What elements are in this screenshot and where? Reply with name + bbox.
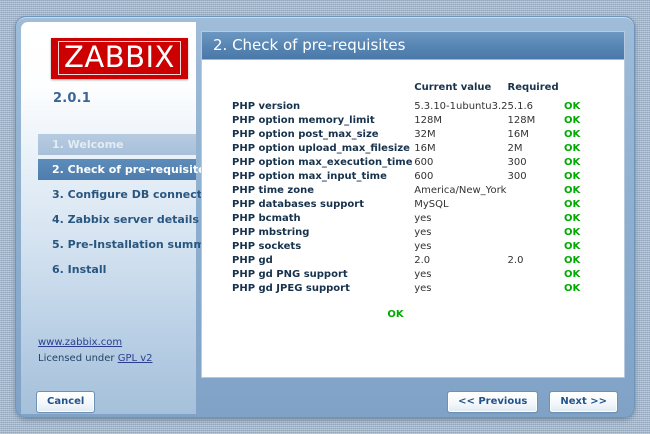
row-name: PHP gd PNG support [202, 267, 414, 281]
license-prefix: Licensed under [38, 353, 118, 364]
content-panel: 2. Check of pre-requisites Current value… [201, 31, 625, 378]
row-required-value: 16M [508, 127, 564, 141]
site-link-line: www.zabbix.com [38, 337, 153, 348]
version-label: 2.0.1 [53, 91, 91, 106]
zabbix-logo: ZABBIX [51, 38, 188, 79]
sidebar-footer-links: www.zabbix.com Licensed under GPL v2 [38, 337, 153, 369]
row-current-value: yes [414, 239, 507, 253]
row-status: OK [564, 211, 594, 225]
table-body: PHP version5.3.10-1ubuntu3.25.1.6OKPHP o… [202, 99, 594, 295]
column-header-required: Required [508, 80, 564, 99]
row-name: PHP option post_max_size [202, 127, 414, 141]
table-row: PHP gd JPEG supportyesOK [202, 281, 594, 295]
table-row: PHP option post_max_size32M16MOK [202, 127, 594, 141]
sidebar-item-welcome[interactable]: 1. Welcome [38, 134, 196, 155]
sidebar-item-pre-install-summary[interactable]: 5. Pre-Installation summary [38, 234, 196, 255]
row-status: OK [564, 197, 594, 211]
row-required-value [508, 211, 564, 225]
row-required-value: 128M [508, 113, 564, 127]
table-row: PHP socketsyesOK [202, 239, 594, 253]
row-status: OK [564, 183, 594, 197]
table-header-row: Current value Required [202, 80, 594, 99]
row-status: OK [564, 169, 594, 183]
row-name: PHP sockets [202, 239, 414, 253]
table-header: Current value Required [202, 80, 594, 99]
row-status: OK [564, 141, 594, 155]
row-required-value [508, 225, 564, 239]
license-link[interactable]: GPL v2 [118, 353, 153, 364]
row-status: OK [564, 155, 594, 169]
row-current-value: yes [414, 281, 507, 295]
row-current-value: 32M [414, 127, 507, 141]
row-name: PHP option memory_limit [202, 113, 414, 127]
sidebar-item-install[interactable]: 6. Install [38, 259, 196, 280]
table-row: PHP bcmathyesOK [202, 211, 594, 225]
table-row: PHP time zoneAmerica/New_YorkOK [202, 183, 594, 197]
sidebar: ZABBIX 2.0.1 1. Welcome 2. Check of pre-… [21, 22, 196, 414]
installer-window: ZABBIX 2.0.1 1. Welcome 2. Check of pre-… [15, 16, 635, 418]
row-status: OK [564, 267, 594, 281]
row-required-value: 300 [508, 169, 564, 183]
sidebar-item-check-prerequisites[interactable]: 2. Check of pre-requisites [38, 159, 196, 180]
column-header-status [564, 80, 594, 99]
next-button[interactable]: Next >> [550, 392, 617, 412]
row-current-value: 128M [414, 113, 507, 127]
row-current-value: yes [414, 267, 507, 281]
row-name: PHP option upload_max_filesize [202, 141, 414, 155]
table-row: PHP option upload_max_filesize16M2MOK [202, 141, 594, 155]
row-name: PHP time zone [202, 183, 414, 197]
cancel-button-wrap: Cancel [37, 389, 94, 412]
row-status: OK [564, 253, 594, 267]
row-required-value: 5.1.6 [508, 99, 564, 113]
step-list: 1. Welcome 2. Check of pre-requisites 3.… [38, 134, 196, 284]
row-name: PHP version [202, 99, 414, 113]
table-row: PHP version5.3.10-1ubuntu3.25.1.6OK [202, 99, 594, 113]
row-current-value: 2.0 [414, 253, 507, 267]
row-name: PHP gd JPEG support [202, 281, 414, 295]
row-current-value: 600 [414, 169, 507, 183]
row-current-value: America/New_York [414, 183, 507, 197]
row-current-value: 16M [414, 141, 507, 155]
row-required-value [508, 267, 564, 281]
row-required-value [508, 197, 564, 211]
row-required-value [508, 281, 564, 295]
row-name: PHP databases support [202, 197, 414, 211]
row-status: OK [564, 127, 594, 141]
row-required-value: 2M [508, 141, 564, 155]
row-name: PHP option max_input_time [202, 169, 414, 183]
table-row: PHP gd PNG supportyesOK [202, 267, 594, 281]
row-required-value: 2.0 [508, 253, 564, 267]
column-header-name [202, 80, 414, 99]
table-row: PHP mbstringyesOK [202, 225, 594, 239]
table-row: PHP databases supportMySQLOK [202, 197, 594, 211]
row-name: PHP option max_execution_time [202, 155, 414, 169]
sidebar-item-server-details[interactable]: 4. Zabbix server details [38, 209, 196, 230]
row-status: OK [564, 225, 594, 239]
table-row: PHP option max_execution_time600300OK [202, 155, 594, 169]
row-status: OK [564, 281, 594, 295]
row-current-value: MySQL [414, 197, 507, 211]
row-current-value: 5.3.10-1ubuntu3.2 [414, 99, 507, 113]
page-title: 2. Check of pre-requisites [202, 32, 624, 60]
navigation-buttons: << Previous Next >> [440, 389, 617, 412]
cancel-button[interactable]: Cancel [37, 392, 94, 412]
row-name: PHP bcmath [202, 211, 414, 225]
zabbix-logo-text: ZABBIX [58, 41, 181, 75]
prerequisites-table: Current value Required PHP version5.3.10… [202, 80, 594, 295]
zabbix-site-link[interactable]: www.zabbix.com [38, 337, 122, 348]
row-current-value: 600 [414, 155, 507, 169]
table-row: PHP gd2.02.0OK [202, 253, 594, 267]
row-status: OK [564, 113, 594, 127]
license-line: Licensed under GPL v2 [38, 353, 153, 364]
table-row: PHP option max_input_time600300OK [202, 169, 594, 183]
row-current-value: yes [414, 211, 507, 225]
column-header-current-value: Current value [414, 80, 507, 99]
row-required-value [508, 239, 564, 253]
row-current-value: yes [414, 225, 507, 239]
sidebar-item-configure-db[interactable]: 3. Configure DB connection [38, 184, 196, 205]
row-name: PHP mbstring [202, 225, 414, 239]
overall-status-badge: OK [202, 309, 624, 320]
row-status: OK [564, 239, 594, 253]
table-row: PHP option memory_limit128M128MOK [202, 113, 594, 127]
row-status: OK [564, 99, 594, 113]
row-required-value [508, 183, 564, 197]
row-name: PHP gd [202, 253, 414, 267]
previous-button[interactable]: << Previous [448, 392, 537, 412]
row-required-value: 300 [508, 155, 564, 169]
